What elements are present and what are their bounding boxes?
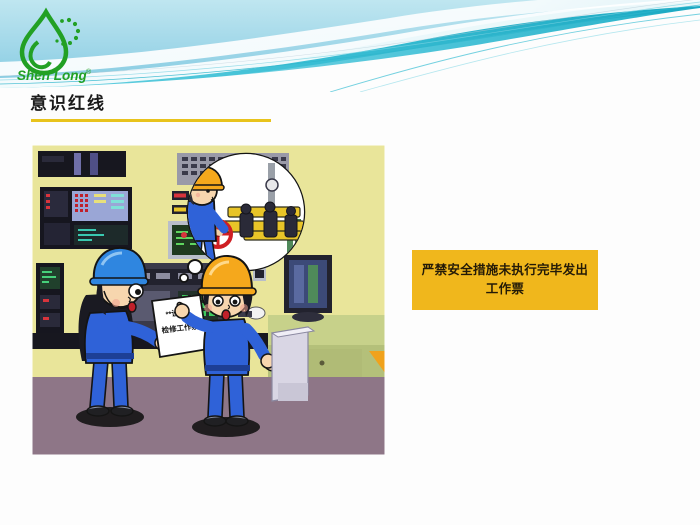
header-banner <box>0 0 700 92</box>
control-room-illustration: **设备 检修工作票 <box>32 145 385 455</box>
safety-callout-box: 严禁安全措施未执行完毕发出工作票 <box>412 250 598 310</box>
logo-wordmark: Shen Long <box>17 68 87 83</box>
safety-callout-text: 严禁安全措施未执行完毕发出工作票 <box>418 261 592 299</box>
shen-long-logo: Shen Long ® <box>8 6 100 86</box>
page-title: 意识红线 <box>30 92 106 116</box>
logo-registered-mark: ® <box>86 68 92 76</box>
slide-canvas: Shen Long ® 意识红线 <box>0 0 700 525</box>
title-underline <box>31 119 271 122</box>
